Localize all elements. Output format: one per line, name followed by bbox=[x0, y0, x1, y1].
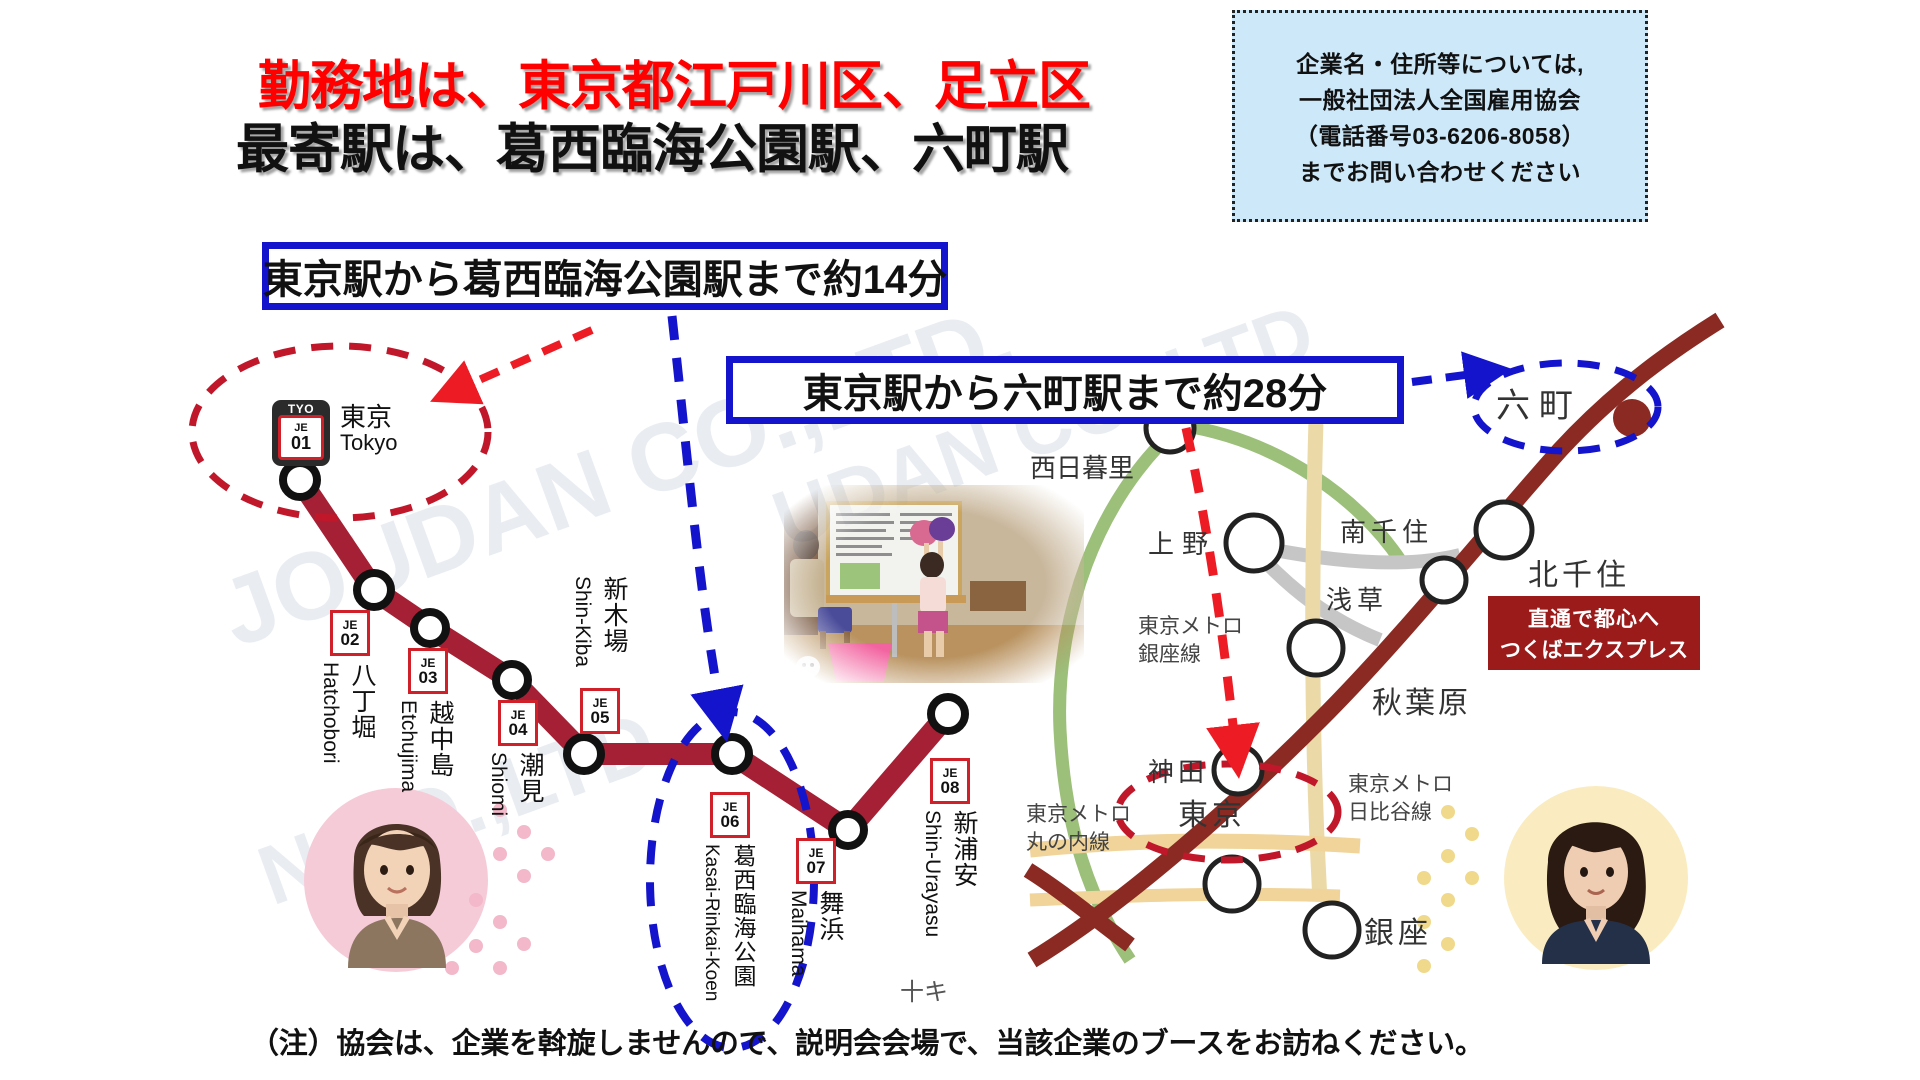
arrow-blue-to-kasai bbox=[672, 316, 722, 716]
metro-station-ueno bbox=[1226, 515, 1282, 571]
metro-label-akihabara: 秋葉原 bbox=[1372, 678, 1471, 722]
station-name-jp: 東京 bbox=[340, 404, 397, 431]
photo-staff-right bbox=[1500, 790, 1690, 965]
je-prefix: JE bbox=[809, 847, 824, 859]
station-badge-je03: JE 03 bbox=[408, 648, 448, 694]
callout-rokucho-travel-time: 東京駅から六町駅まで約28分 bbox=[726, 356, 1404, 424]
station-badge-je06: JE 06 bbox=[710, 792, 750, 838]
metro-label-minamisenju: 南千住 bbox=[1340, 512, 1433, 549]
station-name-jp-je05: 新木場 bbox=[596, 576, 632, 654]
je-prefix: JE bbox=[593, 697, 608, 709]
arrow-red-to-tokyo-metro bbox=[1186, 428, 1236, 752]
tx-badge-line-1: 直通で都心へ bbox=[1528, 603, 1660, 633]
station-badge-je08: JE 08 bbox=[930, 758, 970, 804]
title-line-2: 最寄駅は、葛西臨海公園駅、六町駅 bbox=[236, 119, 1236, 182]
je-number: 03 bbox=[419, 669, 438, 686]
decor-glyph: 十キ bbox=[900, 979, 948, 1006]
je-number: 04 bbox=[509, 721, 528, 738]
station-name-en-je05: Shin-Kiba bbox=[570, 576, 594, 667]
station-name-tokyo: 東京 Tokyo bbox=[340, 404, 397, 454]
station-code-tyo: TYO bbox=[288, 403, 314, 415]
metro-label-ueno: 上野 bbox=[1148, 524, 1216, 561]
keiyo-station-dot-je07 bbox=[832, 814, 864, 846]
je-number: 08 bbox=[941, 779, 960, 796]
station-name-jp-je03: 越中島 bbox=[422, 700, 458, 778]
metro-station-ginza bbox=[1305, 903, 1359, 957]
je-number: 06 bbox=[721, 813, 740, 830]
info-line-3: （電話番号03-6206-8058） bbox=[1295, 117, 1585, 151]
station-badge-je04: JE 04 bbox=[498, 700, 538, 746]
station-name-en-je03: Etchujima bbox=[396, 700, 420, 792]
photo-staff-left bbox=[296, 790, 496, 970]
arrow-blue-to-rokucho bbox=[1412, 372, 1488, 382]
metro-line-tan-2 bbox=[1030, 894, 1340, 900]
metro-line-label-ginza-line: 東京メトロ 銀座線 bbox=[1138, 612, 1243, 669]
metro-line-brown-lower bbox=[1028, 870, 1130, 945]
station-name-en-je02: Hatchobori bbox=[318, 662, 342, 764]
callout-kasai-travel-time: 東京駅から葛西臨海公園駅まで約14分 bbox=[262, 242, 948, 310]
keiyo-station-dot-je06 bbox=[715, 737, 749, 771]
station-name-en-je08: Shin-Urayasu bbox=[920, 810, 944, 937]
je-number: 07 bbox=[807, 859, 826, 876]
je-prefix: JE bbox=[511, 709, 526, 721]
je-prefix: JE bbox=[421, 657, 436, 669]
je-prefix: JE bbox=[343, 619, 358, 631]
arrow-red-to-tokyo bbox=[452, 330, 592, 392]
metro-station-tokyo bbox=[1205, 857, 1259, 911]
keiyo-station-dot-je04 bbox=[496, 664, 528, 696]
je-number: 02 bbox=[341, 631, 360, 648]
metro-line-label-text: 東京メトロ 銀座線 bbox=[1138, 614, 1243, 666]
station-name-jp-je07: 舞浜 bbox=[812, 890, 848, 942]
title-line-1: 勤務地は、東京都江戸川区、足立区 bbox=[236, 56, 1236, 119]
station-name-jp-je06: 葛西臨海公園 bbox=[726, 844, 760, 988]
info-line-1: 企業名・住所等については, bbox=[1296, 45, 1584, 79]
photo-event-room bbox=[784, 485, 1084, 683]
info-line-2: 一般社団法人全国雇用協会 bbox=[1299, 81, 1581, 115]
je-prefix: JE bbox=[723, 801, 738, 813]
tsukuba-express-badge: 直通で都心へ つくばエクスプレス bbox=[1488, 596, 1700, 670]
metro-line-label-marunouchi: 東京メトロ 丸の内線 bbox=[1026, 800, 1131, 857]
metro-station-minamisenju bbox=[1476, 502, 1532, 558]
station-name-en-je07: Maihama bbox=[786, 890, 810, 976]
station-badge-je02: JE 02 bbox=[330, 610, 370, 656]
je-number: 05 bbox=[591, 709, 610, 726]
metro-station-asakusa bbox=[1422, 558, 1466, 602]
keiyo-station-dot-je08 bbox=[931, 697, 965, 731]
metro-label-kanda: 神田 bbox=[1148, 752, 1208, 789]
je-prefix: JE bbox=[943, 767, 958, 779]
keiyo-station-dot-je01 bbox=[283, 463, 317, 497]
metro-label-asakusa: 浅草 bbox=[1326, 580, 1388, 617]
metro-label-rokucho: 六町 bbox=[1496, 378, 1582, 427]
tx-badge-line-2: つくばエクスプレス bbox=[1500, 634, 1688, 664]
contact-info-box: 企業名・住所等については, 一般社団法人全国雇用協会 （電話番号03-6206-… bbox=[1232, 10, 1648, 222]
metro-line-orange bbox=[1313, 420, 1320, 900]
keiyo-station-dot-je03 bbox=[414, 612, 446, 644]
info-line-4: までお問い合わせください bbox=[1299, 153, 1581, 187]
metro-station-kanda bbox=[1214, 746, 1262, 794]
station-name-jp-je04: 潮見 bbox=[512, 752, 548, 804]
station-name-en: Tokyo bbox=[340, 431, 397, 454]
metro-station-rokucho bbox=[1613, 399, 1651, 437]
station-badge-je05: JE 05 bbox=[580, 688, 620, 734]
metro-label-kitasenju: 北千住 bbox=[1528, 550, 1630, 594]
station-badge-je07: JE 07 bbox=[796, 838, 836, 884]
station-name-en-je06: Kasai-Rinkai-Koen bbox=[700, 844, 722, 1001]
station-number-box: JE 01 bbox=[278, 415, 324, 460]
station-sign-tokyo: TYO JE 01 bbox=[272, 400, 330, 466]
metro-line-label-hibiya: 東京メトロ 日比谷線 bbox=[1348, 770, 1453, 827]
station-number: 01 bbox=[291, 434, 311, 452]
metro-line-label-text: 東京メトロ 丸の内線 bbox=[1026, 802, 1131, 854]
metro-label-nishinippori: 西日暮里 bbox=[1030, 448, 1134, 485]
metro-line-label-text: 東京メトロ 日比谷線 bbox=[1348, 772, 1453, 824]
station-name-jp-je08: 新浦安 bbox=[946, 810, 982, 888]
metro-station-akihabara bbox=[1289, 621, 1343, 675]
metro-label-ginza: 銀座 bbox=[1364, 908, 1432, 952]
station-name-jp-je02: 八丁堀 bbox=[344, 662, 380, 740]
metro-label-tokyo: 東京 bbox=[1178, 790, 1246, 834]
page-title: 勤務地は、東京都江戸川区、足立区 最寄駅は、葛西臨海公園駅、六町駅 bbox=[236, 56, 1236, 181]
bottom-note: （注）協会は、企業を斡旋しませんので、説明会会場で、当該企業のブースをお訪ねくだ… bbox=[250, 1020, 1700, 1062]
